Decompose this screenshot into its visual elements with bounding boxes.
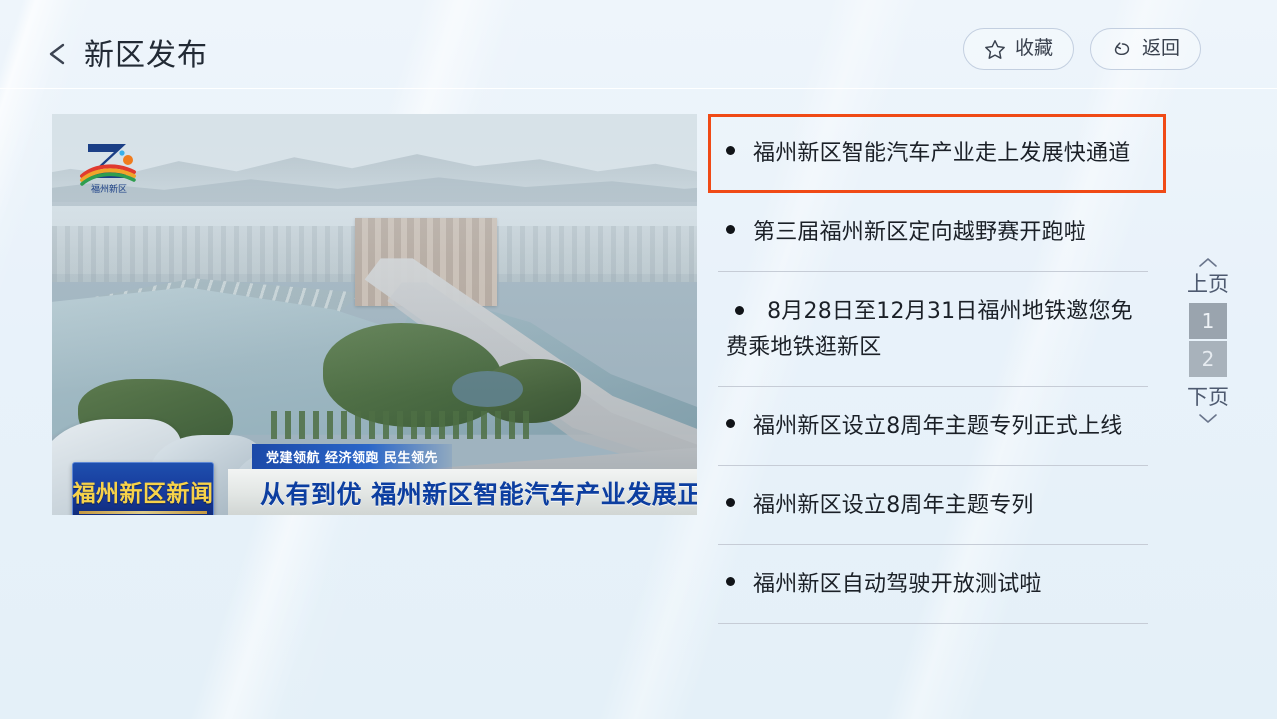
news-list-item[interactable]: 第三届福州新区定向越野赛开跑啦 [708,193,1166,272]
next-page-button[interactable]: 下页 [1187,383,1229,411]
page-number-2-label: 2 [1202,347,1215,371]
svg-text:福州新区: 福州新区 [91,183,127,194]
back-button[interactable]: 返回 [1090,28,1201,70]
news-item-title: 福州新区设立8周年主题专列 [753,488,1034,524]
news-list-item[interactable]: 福州新区设立8周年主题专列 [708,466,1166,545]
bullet-icon [726,419,735,428]
caption-badge-label: 福州新区新闻 [73,474,214,508]
news-list-item[interactable]: 福州新区智能汽车产业走上发展快通道 [708,114,1166,193]
caption-slogan: 党建领航 经济领跑 民生领先 [252,444,452,469]
star-icon [984,38,1006,60]
prev-page-button[interactable]: 上页 [1187,270,1229,298]
caption-bar: 从有到优 福州新区智能汽车产业发展正酣 [228,469,697,515]
caption-badge: 福州新区新闻 [72,462,214,515]
caption-headline: 从有到优 福州新区智能汽车产业发展正酣 [260,475,697,511]
bullet-icon [726,498,735,507]
list-divider [718,623,1148,624]
app-screen: 新区发布 收藏 返回 [0,0,1277,719]
station-logo-watermark: 福州新区 [78,136,140,194]
chevron-down-icon[interactable] [1197,411,1219,425]
page-number-1-label: 1 [1202,309,1215,333]
news-list: 福州新区智能汽车产业走上发展快通道 第三届福州新区定向越野赛开跑啦 8月28日至… [708,114,1166,624]
news-item-title: 8月28日至12月31日福州地铁邀您免费乘地铁逛新区 [726,299,1133,360]
page-number-2[interactable]: 2 [1189,341,1227,377]
news-list-item[interactable]: 福州新区自动驾驶开放测试啦 [708,545,1166,624]
chevron-left-icon[interactable] [44,40,70,68]
next-page-label: 下页 [1187,385,1229,409]
favorite-button[interactable]: 收藏 [963,28,1074,70]
news-list-item[interactable]: 8月28日至12月31日福州地铁邀您免费乘地铁逛新区 [708,272,1166,387]
bullet-icon [726,577,735,586]
bullet-icon [726,146,735,155]
news-item-title: 福州新区智能汽车产业走上发展快通道 [753,136,1130,172]
page-number-list: 1 2 [1189,303,1227,377]
page-number-1[interactable]: 1 [1189,303,1227,339]
pagination: 上页 1 2 下页 [1187,256,1229,425]
favorite-button-label: 收藏 [1015,39,1053,60]
chevron-up-icon[interactable] [1197,256,1219,270]
undo-arrow-icon [1111,38,1133,60]
news-item-title: 第三届福州新区定向越野赛开跑啦 [753,215,1086,251]
news-list-item[interactable]: 福州新区设立8周年主题专列正式上线 [708,387,1166,466]
news-item-title: 福州新区自动驾驶开放测试啦 [753,567,1042,603]
news-item-title: 福州新区设立8周年主题专列正式上线 [753,409,1122,445]
video-thumbnail[interactable]: 福州新区 党建领航 经济领跑 民生领先 从有到优 福州新区智能汽车产业发展正酣 … [52,114,697,515]
prev-page-label: 上页 [1187,272,1229,296]
bullet-icon [735,306,744,315]
page-title: 新区发布 [84,36,208,76]
bullet-icon [726,225,735,234]
page-header: 新区发布 收藏 返回 [0,0,1277,96]
back-button-label: 返回 [1142,39,1180,60]
header-actions: 收藏 返回 [963,28,1201,70]
